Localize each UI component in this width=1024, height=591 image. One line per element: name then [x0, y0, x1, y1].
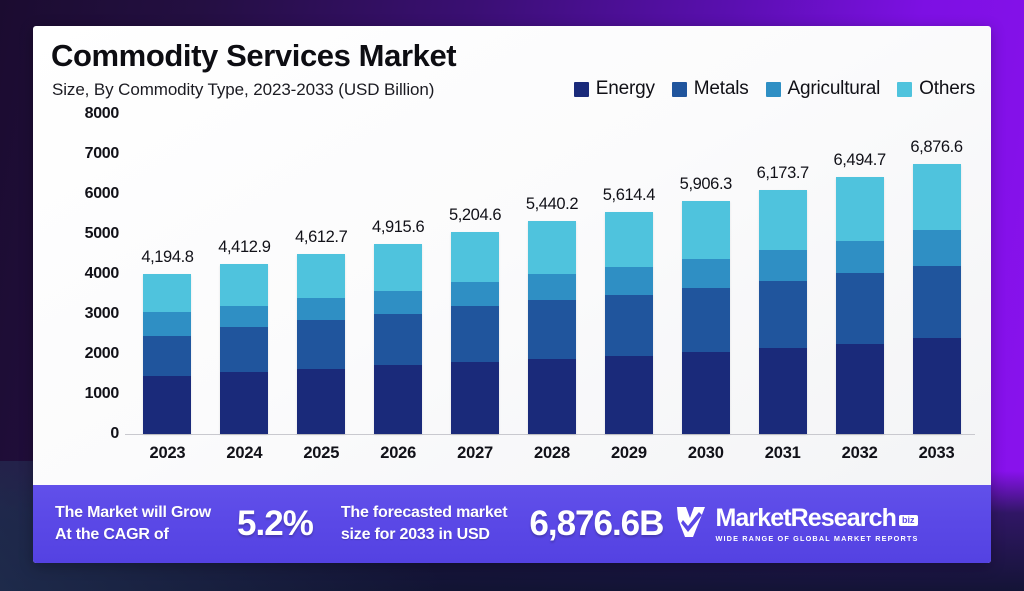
- legend-item-label: Metals: [694, 78, 749, 100]
- bar-value-label: 6,876.6: [910, 138, 962, 157]
- bar-segment-energy[interactable]: [220, 372, 268, 434]
- legend-item-energy[interactable]: Energy: [574, 78, 655, 100]
- y-axis-tick-label: 8000: [33, 105, 119, 123]
- bar-segment-agricultural[interactable]: [682, 259, 730, 288]
- x-axis-tick-label: 2029: [590, 444, 667, 463]
- bar-segment-others[interactable]: [605, 212, 653, 267]
- bar-segment-agricultural[interactable]: [759, 250, 807, 280]
- bar-group[interactable]: 4,412.9: [206, 114, 283, 434]
- stacked-bar[interactable]: [759, 190, 807, 434]
- x-axis-tick-label: 2027: [437, 444, 514, 463]
- bar-segment-energy[interactable]: [451, 362, 499, 434]
- bar-segment-others[interactable]: [220, 264, 268, 306]
- bar-group[interactable]: 5,204.6: [437, 114, 514, 434]
- bar-value-label: 4,194.8: [141, 248, 193, 267]
- x-axis-tick-label: 2031: [744, 444, 821, 463]
- bar-segment-agricultural[interactable]: [220, 306, 268, 328]
- bar-segment-metals[interactable]: [913, 266, 961, 338]
- chart-header: Commodity Services Market Size, By Commo…: [33, 26, 991, 114]
- cagr-caption: The Market will GrowAt the CAGR of: [55, 502, 211, 545]
- bar-group[interactable]: 5,614.4: [590, 114, 667, 434]
- bar-group[interactable]: 5,906.3: [667, 114, 744, 434]
- y-axis-tick-label: 6000: [33, 185, 119, 203]
- bar-segment-metals[interactable]: [374, 314, 422, 366]
- y-axis-tick-label: 4000: [33, 265, 119, 283]
- x-axis-tick-label: 2024: [206, 444, 283, 463]
- bar-segment-others[interactable]: [913, 164, 961, 230]
- bar-value-label: 5,614.4: [603, 186, 655, 205]
- bar-segment-energy[interactable]: [143, 376, 191, 434]
- y-axis-tick-label: 2000: [33, 345, 119, 363]
- bar-segment-agricultural[interactable]: [451, 282, 499, 306]
- bar-segment-metals[interactable]: [605, 295, 653, 356]
- x-axis: 2023202420252026202720282029203020312032…: [129, 444, 975, 463]
- logo-tagline: WIDE RANGE OF GLOBAL MARKET REPORTS: [715, 534, 918, 543]
- bar-segment-others[interactable]: [374, 244, 422, 291]
- stacked-bar[interactable]: [605, 212, 653, 434]
- bar-value-label: 5,440.2: [526, 195, 578, 214]
- brand-logo[interactable]: MarketResearch biz WIDE RANGE OF GLOBAL …: [675, 505, 918, 544]
- summary-banner: The Market will GrowAt the CAGR of 5.2% …: [33, 485, 991, 563]
- bar-segment-agricultural[interactable]: [913, 230, 961, 266]
- bar-value-label: 4,612.7: [295, 228, 347, 247]
- chart-legend: EnergyMetalsAgriculturalOthers: [574, 78, 975, 100]
- bar-segment-others[interactable]: [682, 201, 730, 259]
- y-axis-tick-label: 3000: [33, 305, 119, 323]
- bar-group[interactable]: 6,173.7: [744, 114, 821, 434]
- legend-swatch-icon: [574, 82, 589, 97]
- bar-segment-metals[interactable]: [143, 336, 191, 376]
- legend-item-agricultural[interactable]: Agricultural: [766, 78, 881, 100]
- bar-segment-energy[interactable]: [913, 338, 961, 434]
- bar-segment-energy[interactable]: [374, 365, 422, 434]
- x-axis-tick-label: 2030: [667, 444, 744, 463]
- stacked-bar[interactable]: [682, 201, 730, 434]
- bar-segment-energy[interactable]: [836, 344, 884, 434]
- check-shield-icon: [675, 505, 707, 544]
- bar-value-label: 6,494.7: [833, 151, 885, 170]
- logo-badge: biz: [899, 515, 918, 526]
- legend-item-label: Others: [919, 78, 975, 100]
- legend-swatch-icon: [672, 82, 687, 97]
- bar-segment-metals[interactable]: [759, 281, 807, 349]
- bar-series-container: 4,194.84,412.94,612.74,915.65,204.65,440…: [129, 114, 975, 434]
- bar-group[interactable]: 6,494.7: [821, 114, 898, 434]
- bar-value-label: 5,906.3: [680, 175, 732, 194]
- stacked-bar[interactable]: [451, 232, 499, 434]
- logo-text: MarketResearch biz WIDE RANGE OF GLOBAL …: [715, 506, 918, 543]
- legend-swatch-icon: [766, 82, 781, 97]
- bar-value-label: 4,412.9: [218, 238, 270, 257]
- bar-segment-metals[interactable]: [451, 306, 499, 362]
- stacked-bar[interactable]: [143, 274, 191, 434]
- bar-segment-metals[interactable]: [682, 288, 730, 352]
- stacked-bar[interactable]: [913, 164, 961, 434]
- x-axis-tick-label: 2032: [821, 444, 898, 463]
- bar-group[interactable]: 5,440.2: [514, 114, 591, 434]
- bar-group[interactable]: 4,194.8: [129, 114, 206, 434]
- stacked-bar[interactable]: [836, 177, 884, 434]
- y-axis: 800070006000500040003000200010000: [33, 114, 119, 434]
- x-axis-tick-label: 2023: [129, 444, 206, 463]
- forecast-value: 6,876.6B: [529, 504, 663, 544]
- bar-segment-metals[interactable]: [528, 300, 576, 359]
- x-axis-line: [125, 434, 975, 435]
- chart-subtitle: Size, By Commodity Type, 2023-2033 (USD …: [52, 80, 434, 100]
- legend-item-label: Agricultural: [788, 78, 881, 100]
- y-axis-tick-label: 5000: [33, 225, 119, 243]
- x-axis-tick-label: 2026: [360, 444, 437, 463]
- bar-segment-agricultural[interactable]: [528, 274, 576, 300]
- bar-segment-metals[interactable]: [836, 273, 884, 343]
- bar-group[interactable]: 6,876.6: [898, 114, 975, 434]
- stacked-bar[interactable]: [220, 264, 268, 434]
- bar-segment-agricultural[interactable]: [605, 267, 653, 295]
- bar-group[interactable]: 4,612.7: [283, 114, 360, 434]
- x-axis-tick-label: 2028: [514, 444, 591, 463]
- logo-name: MarketResearch: [715, 506, 896, 531]
- legend-item-others[interactable]: Others: [897, 78, 975, 100]
- bar-segment-energy[interactable]: [759, 348, 807, 434]
- bar-segment-agricultural[interactable]: [297, 298, 345, 319]
- legend-swatch-icon: [897, 82, 912, 97]
- bar-segment-others[interactable]: [759, 190, 807, 251]
- bar-segment-others[interactable]: [451, 232, 499, 282]
- bar-value-label: 4,915.6: [372, 218, 424, 237]
- bar-segment-others[interactable]: [297, 254, 345, 298]
- page-title: Commodity Services Market: [51, 38, 456, 74]
- bar-segment-energy[interactable]: [605, 356, 653, 434]
- stacked-bar[interactable]: [374, 244, 422, 434]
- bar-segment-others[interactable]: [143, 274, 191, 311]
- forecast-caption: The forecasted marketsize for 2033 in US…: [341, 502, 508, 545]
- cagr-value: 5.2%: [237, 504, 313, 544]
- bar-group[interactable]: 4,915.6: [360, 114, 437, 434]
- legend-item-label: Energy: [596, 78, 655, 100]
- chart-plot-area: 800070006000500040003000200010000 4,194.…: [33, 114, 991, 474]
- legend-item-metals[interactable]: Metals: [672, 78, 749, 100]
- bar-segment-energy[interactable]: [297, 369, 345, 434]
- bar-segment-agricultural[interactable]: [836, 241, 884, 273]
- y-axis-tick-label: 7000: [33, 145, 119, 163]
- bar-segment-others[interactable]: [528, 221, 576, 274]
- stacked-bar[interactable]: [528, 221, 576, 434]
- bar-segment-metals[interactable]: [297, 320, 345, 370]
- bar-segment-others[interactable]: [836, 177, 884, 241]
- bar-segment-agricultural[interactable]: [374, 291, 422, 314]
- x-axis-tick-label: 2033: [898, 444, 975, 463]
- bar-value-label: 6,173.7: [757, 164, 809, 183]
- stacked-bar[interactable]: [297, 254, 345, 434]
- infographic-card: Commodity Services Market Size, By Commo…: [33, 26, 991, 563]
- bar-value-label: 5,204.6: [449, 206, 501, 225]
- bar-segment-energy[interactable]: [682, 352, 730, 434]
- y-axis-tick-label: 0: [33, 425, 119, 443]
- bar-segment-agricultural[interactable]: [143, 312, 191, 336]
- y-axis-tick-label: 1000: [33, 385, 119, 403]
- bar-segment-metals[interactable]: [220, 327, 268, 372]
- bar-segment-energy[interactable]: [528, 359, 576, 434]
- x-axis-tick-label: 2025: [283, 444, 360, 463]
